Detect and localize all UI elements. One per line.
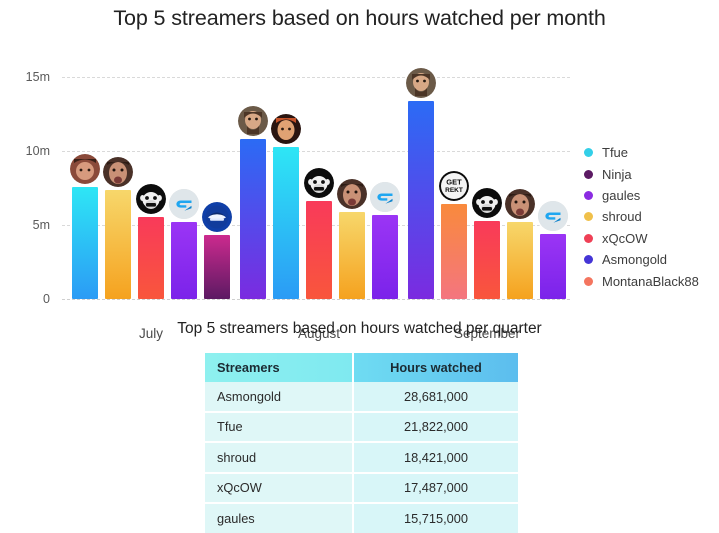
bar-xqcow-september[interactable] [474,221,500,299]
gorilla-logo-avatar [472,188,502,218]
cell-streamer: xQcOW [205,473,353,504]
legend-label: shroud [602,209,642,224]
legend-dot-montanablack88 [584,277,593,286]
legend-item-asmongold[interactable]: Asmongold [584,249,699,270]
legend-item-ninja[interactable]: Ninja [584,163,699,184]
legend-label: Ninja [602,167,632,182]
bar-tfue-august[interactable] [273,147,299,299]
gorilla-logo-avatar [136,184,166,214]
table-row: shroud18,421,000 [205,442,518,473]
face-montana-avatar [271,114,301,144]
bar-asmongold-september[interactable] [408,101,434,299]
cell-hours-watched: 18,421,000 [353,442,518,473]
table-header-hours-watched: Hours watched [353,353,518,382]
legend-dot-ninja [584,170,593,179]
bar-gaules-july[interactable] [171,222,197,299]
table-row: Asmongold28,681,000 [205,382,518,412]
cell-hours-watched: 28,681,000 [353,382,518,412]
table-row: Tfue21,822,000 [205,412,518,443]
legend-item-xqcow[interactable]: xQcOW [584,228,699,249]
screenshot-root: Top 5 streamers based on hours watched p… [0,0,719,529]
chart-legend: TfueNinjagaulesshroudxQcOWAsmongoldMonta… [584,142,699,292]
table-header-streamers: Streamers [205,353,353,382]
table-row: xQcOW17,487,000 [205,473,518,504]
gridline [62,77,570,78]
face-xqcow-avatar [505,189,535,219]
chart-title: Top 5 streamers based on hours watched p… [0,6,719,31]
face-xqcow-avatar [103,157,133,187]
face-asmongold-avatar [406,68,436,98]
legend-dot-xqcow [584,234,593,243]
bar-gaules-august[interactable] [372,215,398,299]
face-asmongold-avatar [238,106,268,136]
cell-streamer: Tfue [205,412,353,443]
svg-text:REKT: REKT [445,187,463,194]
axis-baseline [62,299,570,300]
table-title: Top 5 streamers based on hours watched p… [0,320,719,338]
cell-streamer: shroud [205,442,353,473]
gridline [62,151,570,152]
face-ninja-avatar [70,154,100,184]
bar-tfue-july[interactable] [72,187,98,299]
legend-dot-gaules [584,191,593,200]
bar-xqcow-july[interactable] [138,217,164,299]
bar-gaules-september[interactable] [540,234,566,299]
bar-shroud-july[interactable] [105,190,131,299]
legend-label: Tfue [602,145,628,160]
legend-dot-tfue [584,148,593,157]
gaules-logo-avatar [538,201,568,231]
y-axis-tick: 5m [33,218,50,232]
bar-asmongold-august[interactable] [240,139,266,299]
cell-streamer: Asmongold [205,382,353,412]
table-row: gaules15,715,000 [205,503,518,533]
legend-label: gaules [602,188,640,203]
face-xqcow-avatar [337,179,367,209]
legend-label: MontanaBlack88 [602,274,699,289]
y-axis-tick: 10m [26,144,50,158]
legend-item-gaules[interactable]: gaules [584,185,699,206]
y-axis-tick: 0 [43,292,50,306]
gaules-logo-avatar [169,189,199,219]
bar-xqcow-august[interactable] [306,201,332,299]
table-header-row: Streamers Hours watched [205,353,518,382]
bar-shroud-september[interactable] [507,222,533,299]
legend-label: Asmongold [602,252,667,267]
legend-dot-shroud [584,212,593,221]
getrekt-logo-avatar: GETREKT [439,171,469,201]
legend-item-shroud[interactable]: shroud [584,206,699,227]
legend-item-montanablack88[interactable]: MontanaBlack88 [584,270,699,291]
cell-hours-watched: 21,822,000 [353,412,518,443]
cell-hours-watched: 17,487,000 [353,473,518,504]
svg-text:GET: GET [446,178,462,187]
gaules-logo-avatar [370,182,400,212]
ninja-logo-avatar [202,202,232,232]
bar-chart: 05m10m15mJulyAugustGETREKTSeptember [62,58,570,321]
legend-dot-asmongold [584,255,593,264]
gorilla-logo-avatar [304,168,334,198]
legend-label: xQcOW [602,231,648,246]
bar-ninja-july[interactable] [204,235,230,299]
bar-montanablack88-september[interactable] [441,204,467,299]
y-axis-tick: 15m [26,70,50,84]
streamers-table: Streamers Hours watched Asmongold28,681,… [205,353,518,533]
cell-hours-watched: 15,715,000 [353,503,518,533]
cell-streamer: gaules [205,503,353,533]
legend-item-tfue[interactable]: Tfue [584,142,699,163]
bar-shroud-august[interactable] [339,212,365,299]
